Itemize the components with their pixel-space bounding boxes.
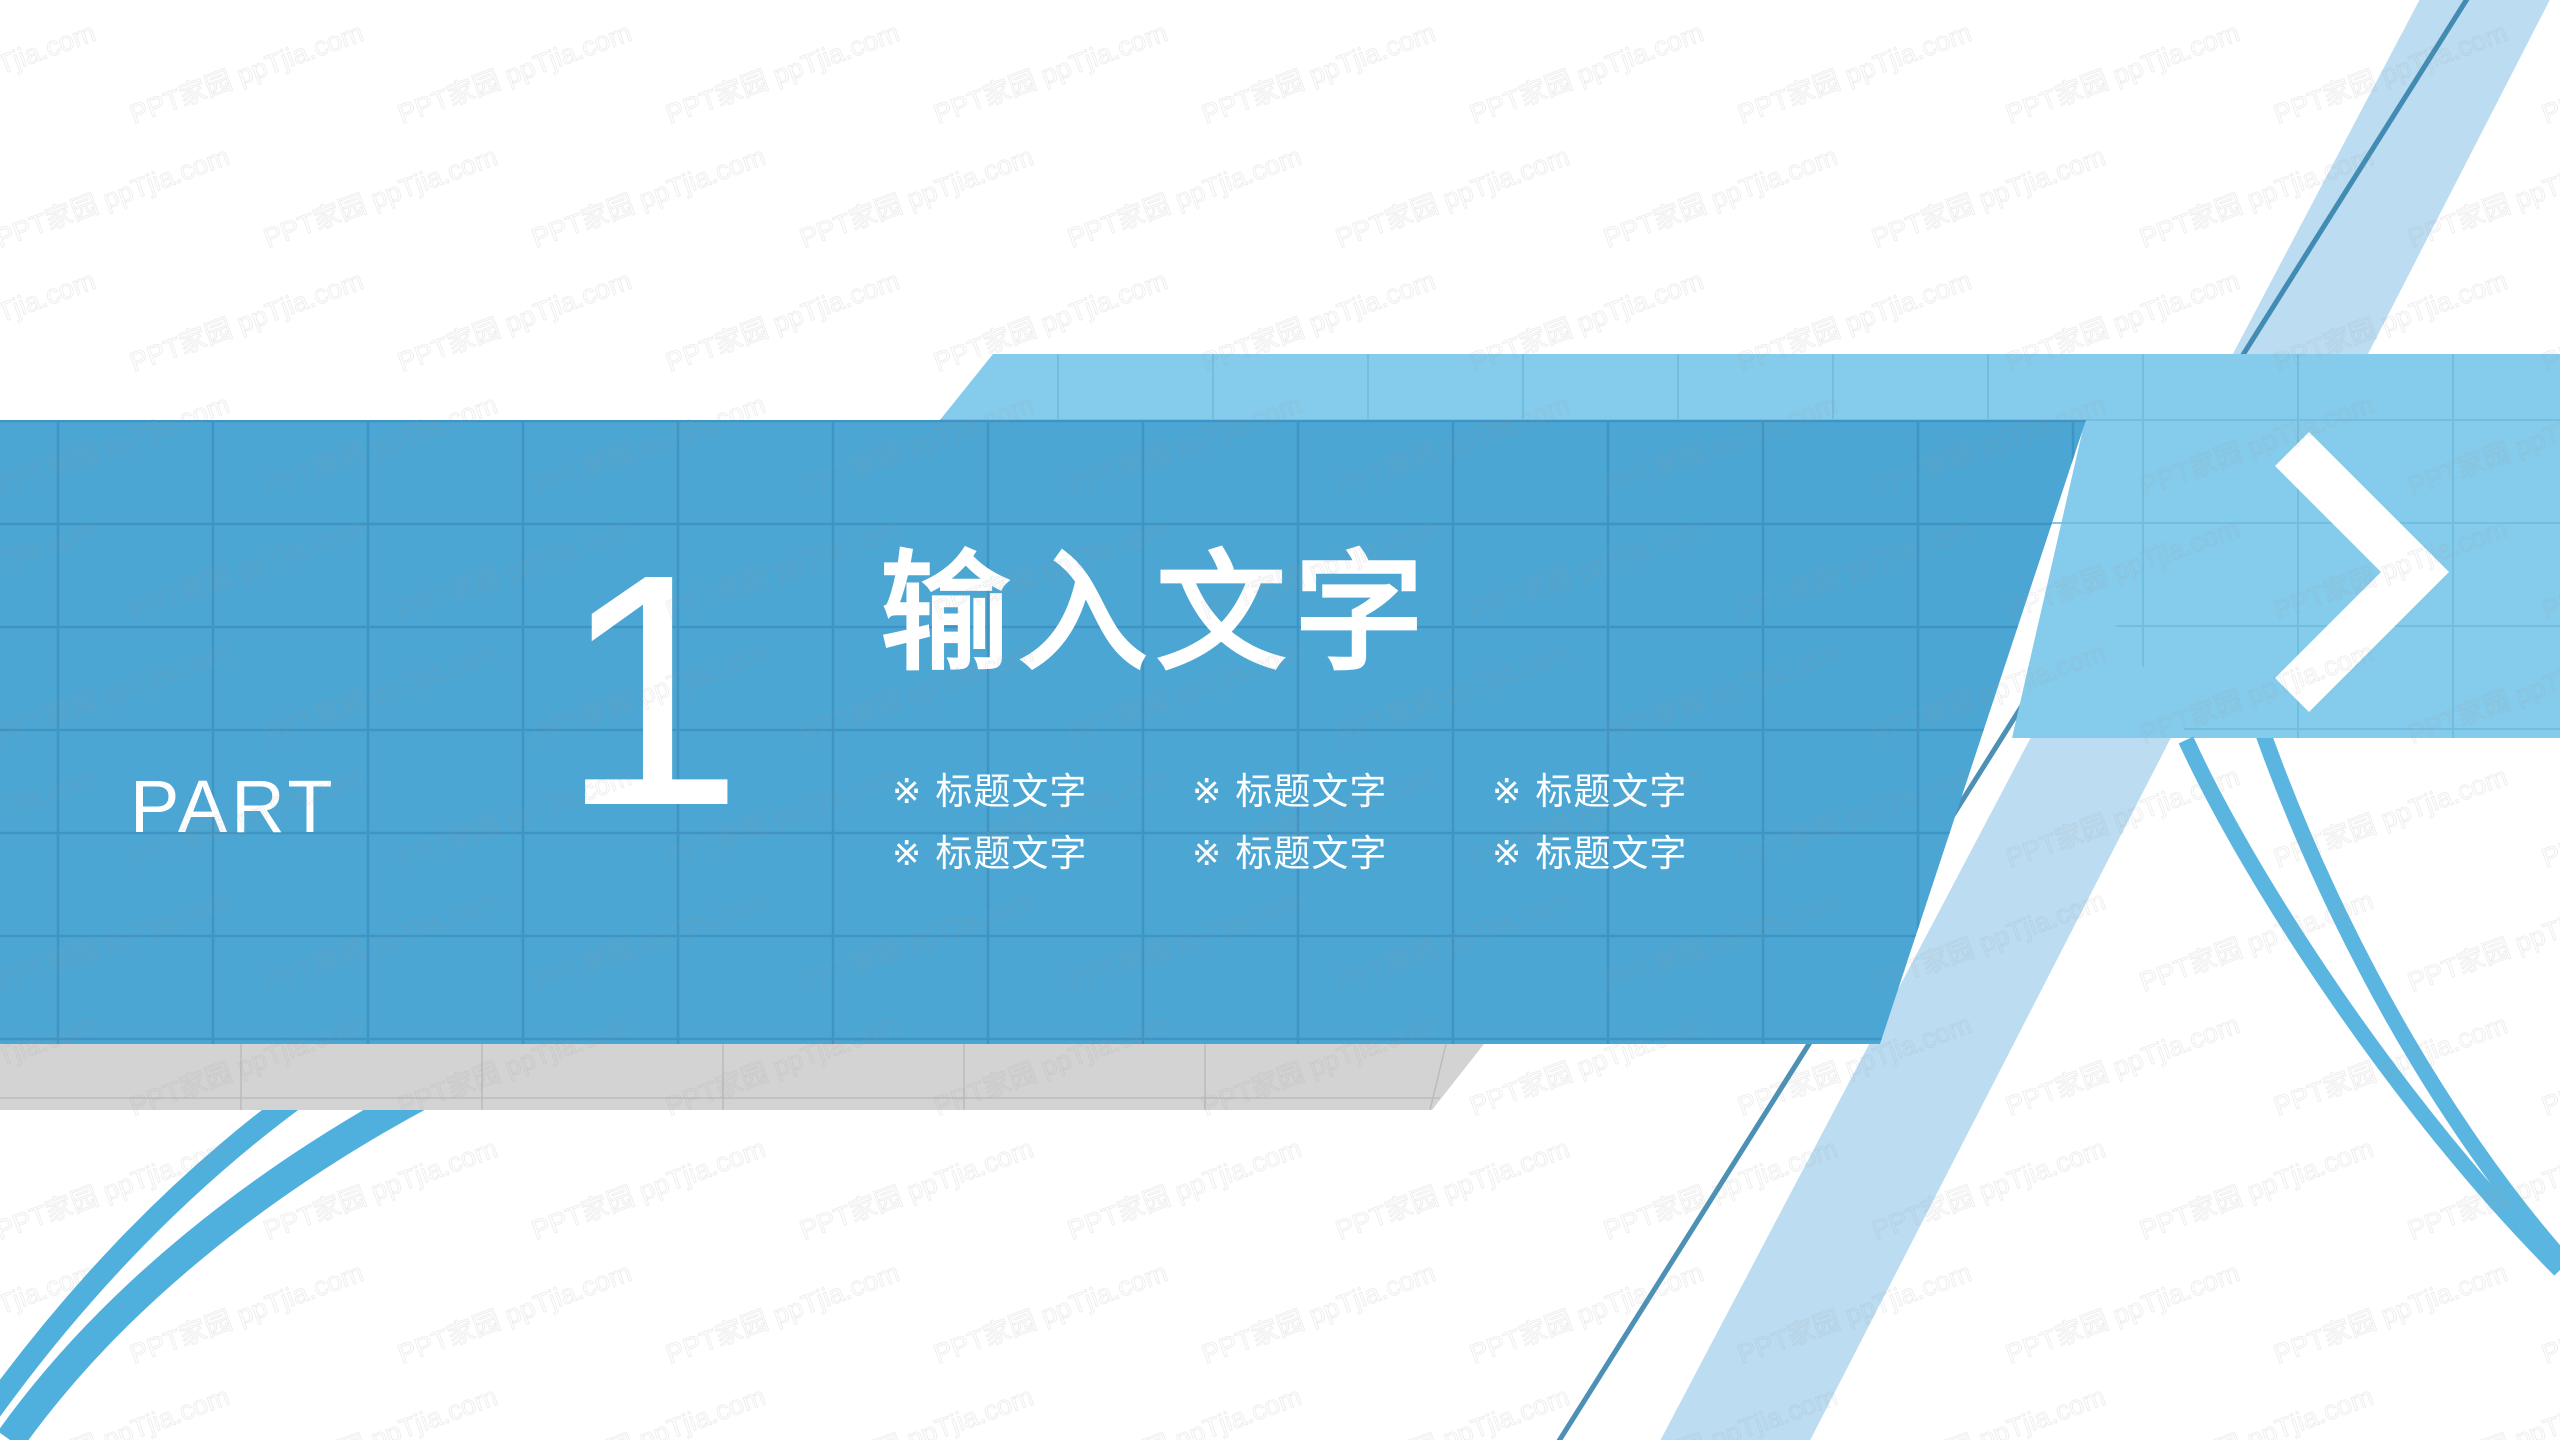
bullet-label: 标题文字 <box>1535 773 1687 810</box>
bullet-label: 标题文字 <box>1235 773 1387 810</box>
chevron-right-icon[interactable] <box>0 0 2560 1440</box>
bullet-mark-icon: ※ <box>1492 836 1521 871</box>
chevron-right-glyph <box>2275 432 2449 712</box>
bullet-label: 标题文字 <box>1535 835 1687 872</box>
bullet-label: 标题文字 <box>935 773 1087 810</box>
section-number: 1 <box>560 525 744 855</box>
bullet-mark-icon: ※ <box>1492 774 1521 809</box>
list-item: ※ 标题文字 <box>892 822 1192 884</box>
page-title: 输入文字 <box>880 548 1432 678</box>
list-item: ※ 标题文字 <box>1492 760 1792 822</box>
list-item: ※ 标题文字 <box>1192 760 1492 822</box>
list-item: ※ 标题文字 <box>1492 822 1792 884</box>
part-label: PART <box>130 770 337 844</box>
bullet-mark-icon: ※ <box>892 774 921 809</box>
bullet-label: 标题文字 <box>935 835 1087 872</box>
bullet-list: ※ 标题文字 ※ 标题文字 ※ 标题文字 ※ 标题文字 ※ 标题文字 ※ 标题文… <box>892 760 1792 884</box>
list-item: ※ 标题文字 <box>1192 822 1492 884</box>
slide-canvas: PART 1 输入文字 ※ 标题文字 ※ 标题文字 ※ 标题文字 ※ 标题文字 … <box>0 0 2560 1440</box>
bullet-mark-icon: ※ <box>1192 836 1221 871</box>
list-item: ※ 标题文字 <box>892 760 1192 822</box>
bullet-mark-icon: ※ <box>1192 774 1221 809</box>
bullet-label: 标题文字 <box>1235 835 1387 872</box>
bullet-mark-icon: ※ <box>892 836 921 871</box>
